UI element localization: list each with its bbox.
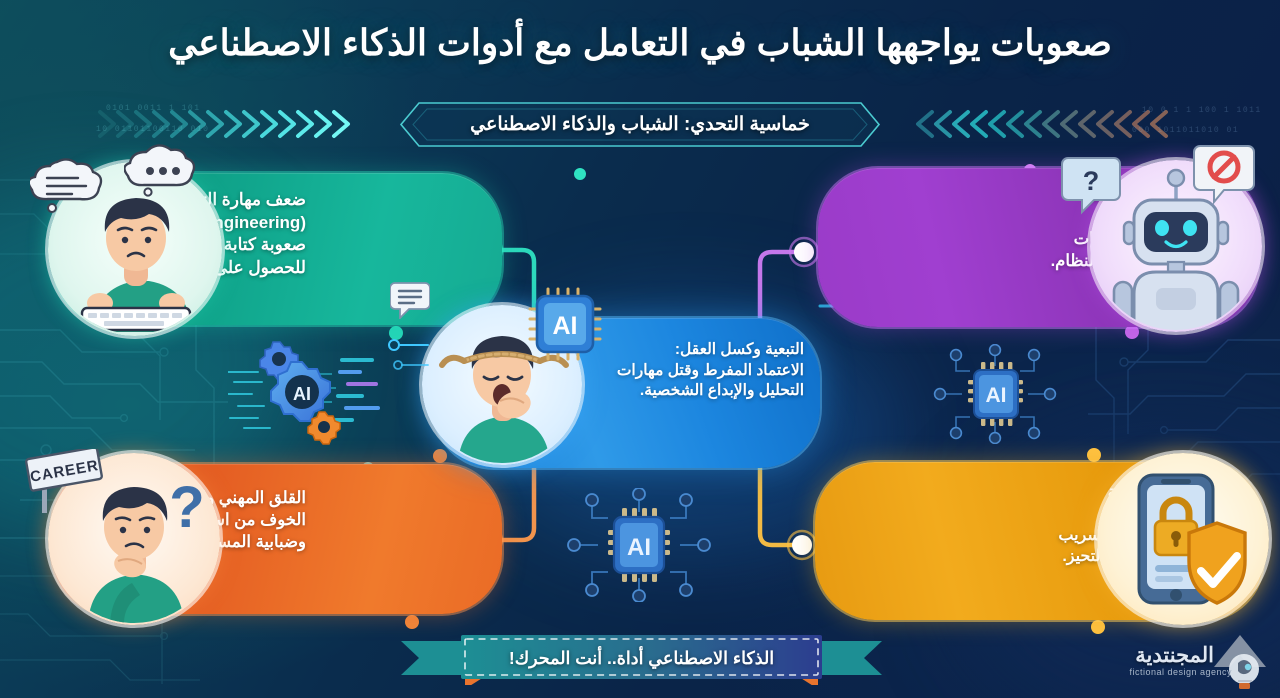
card-prompt-engineering[interactable]: ضعف مهارة التوجيه (Prompt Engineering): … xyxy=(54,173,502,325)
card-dependency[interactable]: التبعية وكسل العقل: الاعتماد المفرط وقتل… xyxy=(434,318,820,468)
binary-decor-right-2: 000 1011011010 01 xyxy=(1132,126,1239,135)
binary-decor-right-1: 10 0 1 1 100 1 1011 xyxy=(1142,106,1262,115)
ai-chip-decor-center: AI xyxy=(562,488,716,607)
binary-decor-left-2: 10 01101100110 010 xyxy=(96,125,209,134)
logo-arabic-text: المجنتدية xyxy=(1135,643,1214,668)
page-title: صعوبات يواجهها الشباب في التعامل مع أدوا… xyxy=(0,20,1280,65)
footer-slogan: الذكاء الاصطناعي أداة.. أنت المحرك! xyxy=(509,648,774,669)
binary-decor-left-1: 0101 0011 1 101 xyxy=(106,104,201,113)
header: صعوبات يواجهها الشباب في التعامل مع أدوا… xyxy=(0,0,1280,160)
ai-chip-decor-right: AI xyxy=(928,344,1062,449)
svg-text:?: ? xyxy=(1083,166,1100,196)
logo-english-tagline: fictional design agency xyxy=(1129,667,1232,677)
worried-career-icon: CAREER ? xyxy=(48,453,220,625)
footer-banner: الذكاء الاصطناعي أداة.. أنت المحرك! xyxy=(399,631,884,685)
chevron-decor-right xyxy=(908,104,1170,149)
card-hallucination[interactable]: فخ التضليل و"الهلوسة" (Hallucinations): … xyxy=(818,168,1258,327)
ai-gear-decor: AI xyxy=(228,330,388,457)
svg-text:AI: AI xyxy=(553,312,578,340)
subtitle-banner: خماسية التحدي: الشباب والذكاء الاصطناعي xyxy=(397,101,883,148)
yawning-person-icon: AI xyxy=(422,305,582,465)
subtitle-text: خماسية التحدي: الشباب والذكاء الاصطناعي xyxy=(470,113,810,136)
svg-text:AI: AI xyxy=(627,534,651,561)
svg-text:?: ? xyxy=(169,475,204,540)
robot-icon: ? xyxy=(1090,160,1262,332)
card-career-anxiety[interactable]: القلق المهني والوجودي: الخوف من استبدال … xyxy=(52,464,502,614)
svg-text:AI: AI xyxy=(293,384,311,404)
svg-text:AI: AI xyxy=(986,384,1007,407)
agency-logo: المجنتدية fictional design agency xyxy=(1100,633,1272,695)
phone-lock-shield-icon xyxy=(1097,453,1269,625)
card-ethics-privacy[interactable]: المعضلات الأخلاقية والخصوصية: المخاوف ال… xyxy=(815,462,1263,620)
card-dependency-text: التبعية وكسل العقل: الاعتماد المفرط وقتل… xyxy=(599,340,804,402)
infographic-canvas: صعوبات يواجهها الشباب في التعامل مع أدوا… xyxy=(0,0,1280,698)
confused-typist-icon xyxy=(48,162,222,336)
